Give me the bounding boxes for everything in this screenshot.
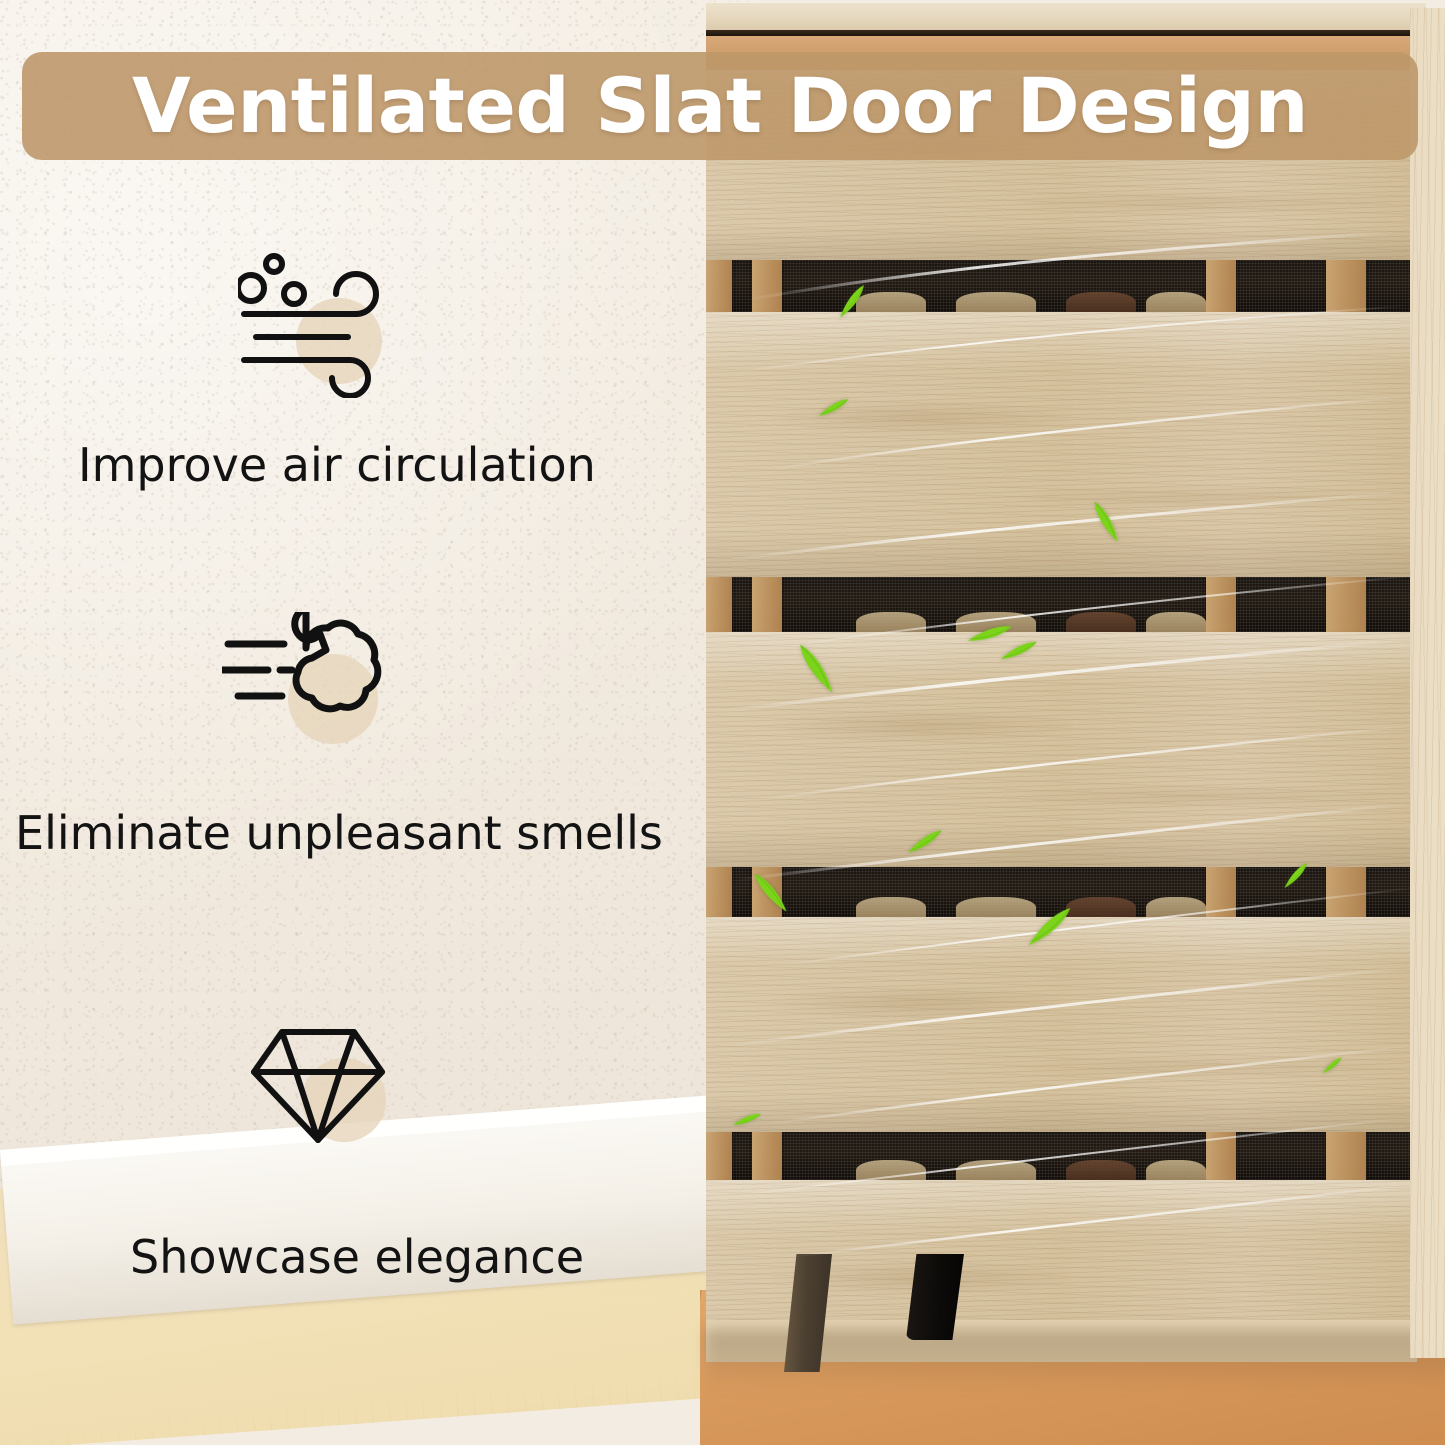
slat-spacer-block xyxy=(706,867,732,917)
door-slat xyxy=(706,917,1417,1132)
cabinet-frame-post-right xyxy=(1410,8,1445,1358)
shoe-inside-cabinet xyxy=(856,612,926,632)
ventilation-gap xyxy=(706,260,1417,312)
title-banner: Ventilated Slat Door Design xyxy=(22,52,1418,160)
slat-spacer-block xyxy=(1206,260,1236,312)
slat-spacer-block xyxy=(1326,577,1366,632)
slat-spacer-block xyxy=(1206,577,1236,632)
shoe-cabinet xyxy=(706,0,1445,1400)
vent-mesh xyxy=(706,577,1417,632)
smoke-puff-icon xyxy=(222,612,382,762)
feature-odor-elimination: Eliminate unpleasant smells xyxy=(222,612,382,762)
shoe-inside-cabinet xyxy=(956,1160,1036,1180)
cabinet-top-surface xyxy=(706,2,1426,30)
slat-spacer-block xyxy=(1326,1132,1366,1180)
shoe-inside-cabinet xyxy=(1146,292,1206,312)
feature-label: Eliminate unpleasant smells xyxy=(15,806,663,860)
slat-spacer-block xyxy=(1206,1132,1236,1180)
vent-mesh xyxy=(706,260,1417,312)
slat-spacer-block xyxy=(1326,260,1366,312)
slat-spacer-block xyxy=(1326,867,1366,917)
vent-mesh xyxy=(706,1132,1417,1180)
slat-spacer-block xyxy=(706,260,732,312)
shoe-inside-cabinet xyxy=(856,1160,926,1180)
ventilation-gap xyxy=(706,1132,1417,1180)
shoe-inside-cabinet xyxy=(1146,1160,1206,1180)
shoe-inside-cabinet xyxy=(1146,897,1206,917)
banner-title: Ventilated Slat Door Design xyxy=(132,68,1308,144)
shoe-inside-cabinet xyxy=(856,897,926,917)
shoe-inside-cabinet xyxy=(856,292,926,312)
shoe-inside-cabinet xyxy=(1146,612,1206,632)
shoe-inside-cabinet xyxy=(1066,612,1136,632)
shoe-inside-cabinet xyxy=(956,897,1036,917)
shoe-inside-cabinet xyxy=(1066,897,1136,917)
shoe-inside-cabinet xyxy=(956,292,1036,312)
shoe-inside-cabinet xyxy=(1066,1160,1136,1180)
product-feature-image: Ventilated Slat Door Design Improve air … xyxy=(0,0,1445,1445)
door-slat xyxy=(706,312,1417,577)
slat-spacer-block xyxy=(706,577,732,632)
ventilation-gap xyxy=(706,577,1417,632)
slat-spacer-block xyxy=(752,260,782,312)
slat-spacer-block xyxy=(1206,867,1236,917)
shoe-inside-cabinet xyxy=(1066,292,1136,312)
diamond-icon xyxy=(248,1012,408,1162)
feature-elegance: Showcase elegance xyxy=(248,1012,408,1162)
feature-label: Improve air circulation xyxy=(78,438,596,492)
slat-spacer-block xyxy=(706,1132,732,1180)
slat-spacer-block xyxy=(752,577,782,632)
slat-spacer-block xyxy=(752,1132,782,1180)
slat-door xyxy=(706,70,1417,1325)
feature-air-circulation: Improve air circulation xyxy=(238,248,398,398)
feature-label: Showcase elegance xyxy=(130,1230,584,1284)
wind-icon xyxy=(238,248,398,398)
